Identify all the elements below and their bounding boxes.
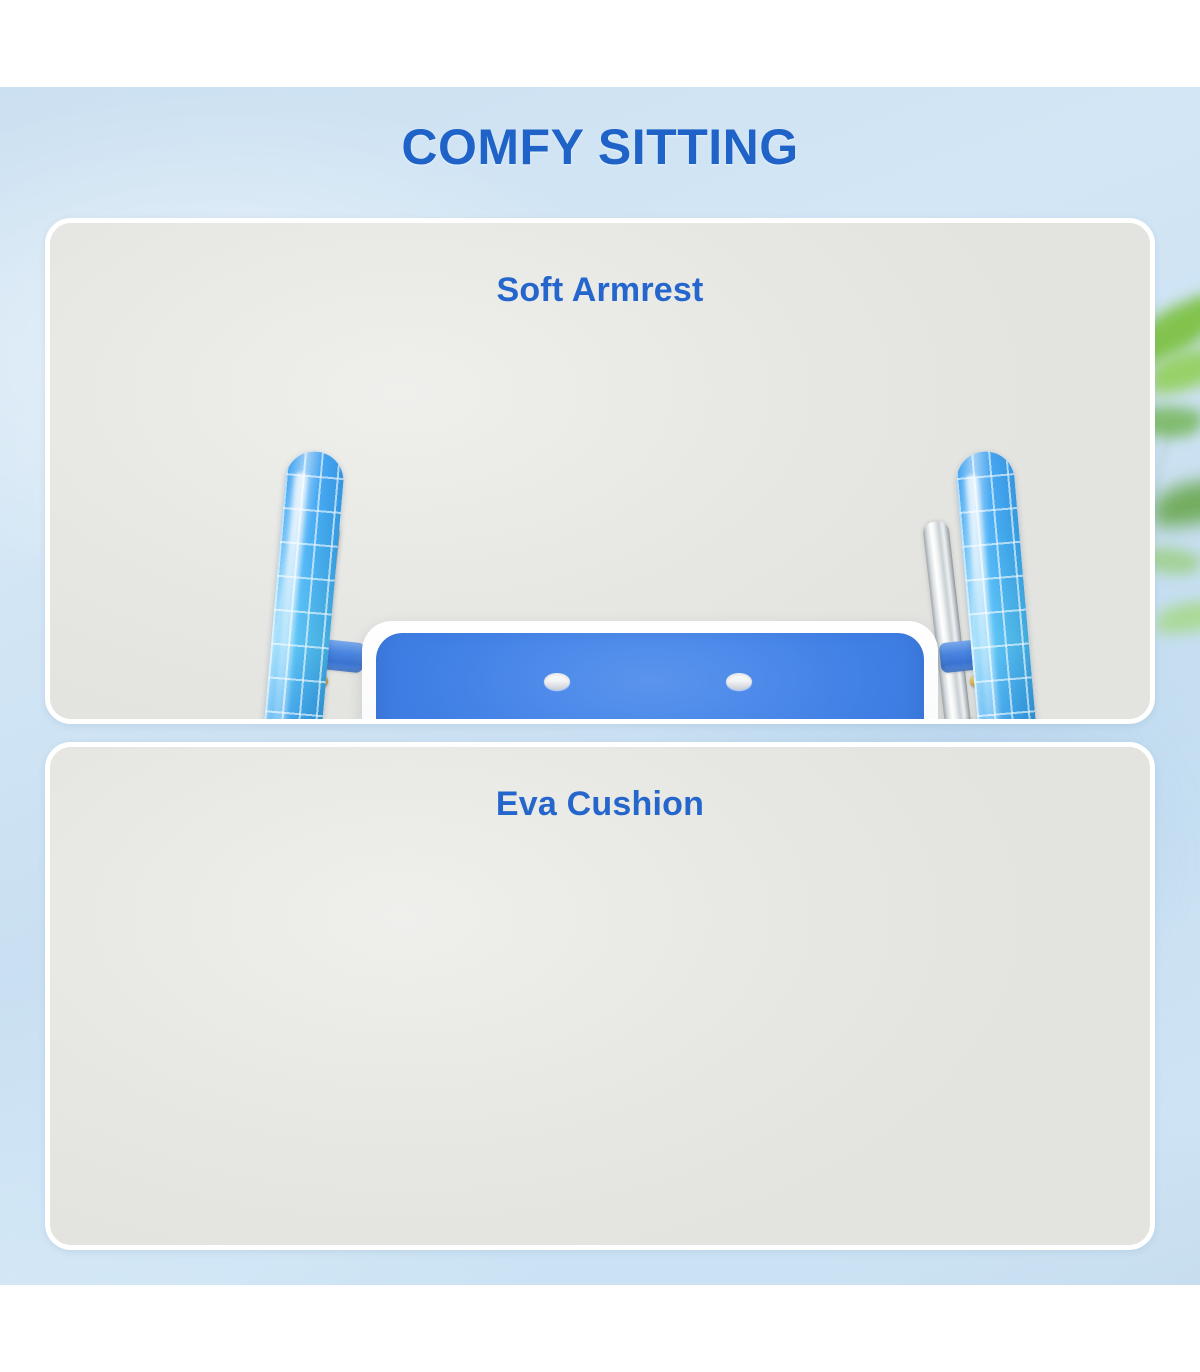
page-title: COMFY SITTING	[0, 118, 1200, 176]
panel-label-soft-armrest: Soft Armrest	[50, 271, 1150, 310]
drainage-hole	[726, 673, 752, 690]
panel-eva-cushion: Eva Cushion	[45, 742, 1155, 1250]
drainage-hole	[636, 723, 662, 724]
panel-label-eva-cushion: Eva Cushion	[50, 785, 1150, 824]
armrest-pad-left	[256, 449, 346, 724]
frame-post-lower-right	[942, 718, 986, 724]
panel-soft-armrest: Soft Armrest	[45, 218, 1155, 724]
armrest-pad-right	[954, 449, 1044, 724]
product-infographic: COMFY SITTING Soft Armrest	[0, 0, 1200, 1372]
drainage-hole	[544, 673, 570, 690]
frame-post-lower-left	[277, 718, 321, 724]
leaf-icon	[1155, 600, 1200, 635]
seat-cushion	[376, 633, 924, 724]
